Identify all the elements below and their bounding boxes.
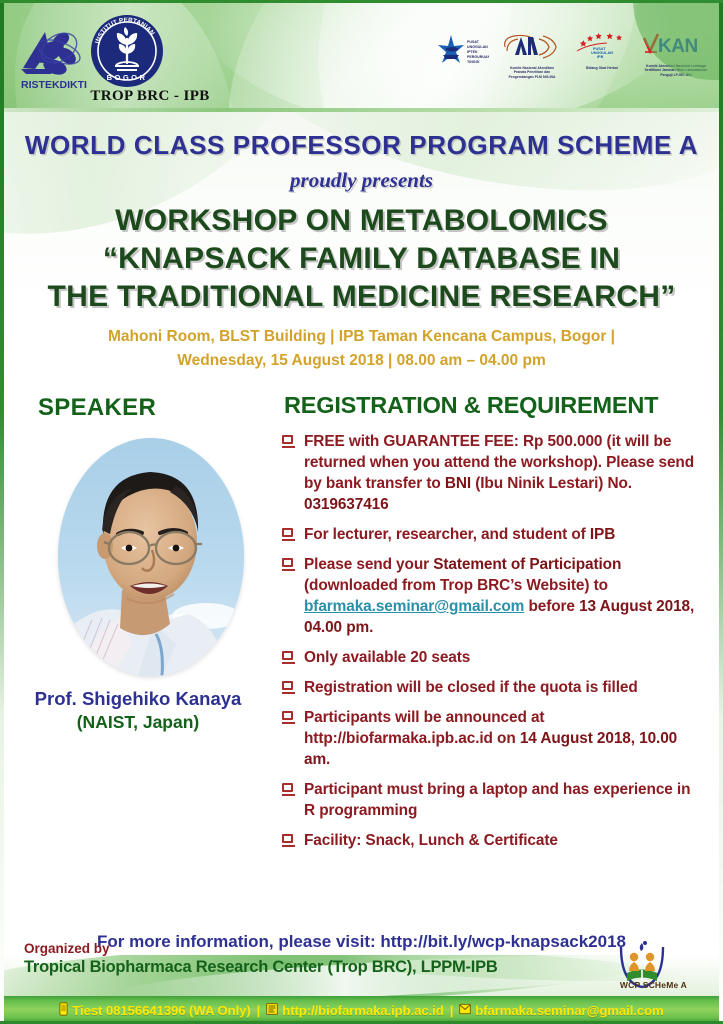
frame-right-edge [719,0,723,1024]
wcp-scheme-caption: WCP SCHeMe A [620,980,687,990]
workshop-title-line2: “KNAPSACK FAMILY DATABASE IN [0,240,723,278]
contact-website[interactable]: http://biofarmaka.ipb.ac.id [282,1003,443,1018]
emphasis-text: 13 August 2018 [579,598,690,615]
pusat-unggulan-ipb-caption: Bidang Obat Herbal [575,66,629,70]
workshop-title-line3: THE TRADITIONAL MEDICINE RESEARCH” [0,278,723,316]
web-icon [266,1003,278,1018]
checkbox-icon [282,435,293,444]
svg-text:BOGOR: BOGOR [107,73,148,82]
ipb-logo: INSTITUT PERTANIAN BOGOR [90,14,164,88]
organized-by-label: Organized by [24,941,110,956]
checkbox-icon [282,681,293,690]
proudly-presents: proudly presents [0,168,723,193]
body-text: Registration will be closed if the quota… [304,679,638,696]
body-text: , [631,730,639,747]
svg-text:IPTEK: IPTEK [467,50,478,54]
checkbox-icon [282,783,293,792]
contact-email[interactable]: bfarmaka.seminar@gmail.com [475,1003,663,1018]
contact-phone[interactable]: Tiest 08156641396 (WA Only) [72,1003,250,1018]
speaker-name: Prof. Shigehiko Kanaya [0,688,276,710]
email-link[interactable]: bfarmaka.seminar@gmail.com [304,598,524,615]
contact-separator-1: | [255,1003,263,1018]
frame-top-edge [0,0,723,3]
registration-item-eligibility: For lecturer, researcher, and student of… [280,524,703,545]
frame-left-edge [0,0,4,1024]
pusat-unggulan-ipb-logo: PUSAT UNGGULAN IPB Bidang Obat Herbal [575,33,629,70]
body-text: (Ibu Ninik Lestari) No. [471,475,632,492]
registration-heading: REGISTRATION & REQUIREMENT [284,392,703,419]
body-text: . [369,619,373,636]
poster-root: RISTEKDIKTI INSTITUT PERTANIAN [0,0,723,1024]
emphasis-text: Statement of Participation [433,556,621,573]
body-text: , [690,598,694,615]
workshop-title: WORKSHOP ON METABOLOMICS “KNAPSACK FAMIL… [0,202,723,316]
emphasis-text: 04.00 pm [304,619,369,636]
venue-datetime: Mahoni Room, BLST Building | IPB Taman K… [0,325,723,373]
svg-text:IPB: IPB [597,55,604,59]
knapp-caption: Komite Nasional Akreditasi Pranata Penel… [501,66,563,79]
speaker-photo [58,438,244,676]
speaker-heading: SPEAKER [38,394,156,422]
body-text: Facility: Snack, Lunch & Certificate [304,832,558,849]
checkbox-icon [282,558,293,567]
poster-header: RISTEKDIKTI INSTITUT PERTANIAN [0,0,723,112]
emphasis-text: 14 August 2018 [520,730,631,747]
registration-item-seats: Only available 20 seats [280,647,703,668]
body-text: . [326,751,330,768]
registration-item-quota: Registration will be closed if the quota… [280,677,703,698]
emphasis-text: 0319637416 [304,496,389,513]
title-block: WORLD CLASS PROFESSOR PROGRAM SCHEME A p… [0,112,723,390]
svg-text:PUSAT: PUSAT [467,40,480,44]
venue-line: Mahoni Room, BLST Building | IPB Taman K… [0,325,723,349]
emphasis-text: IPB [590,526,615,543]
phone-icon [59,1002,68,1019]
knapp-accreditation-logo: Komite Nasional Akreditasi Pranata Penel… [501,33,563,79]
body-text: Only available 20 seats [304,649,470,666]
registration-item-statement: Please send your Statement of Participat… [280,554,703,638]
mail-icon [459,1003,471,1018]
registration-section: REGISTRATION & REQUIREMENT FREE with GUA… [280,390,703,860]
speaker-section: SPEAKER [0,390,276,930]
checkbox-icon [282,651,293,660]
svg-text:PERGURUAN: PERGURUAN [467,55,489,59]
ristekdikti-logo: RISTEKDIKTI [15,22,93,94]
body-text: Please send your [304,556,433,573]
contact-bar: Tiest 08156641396 (WA Only) | http://bio… [0,996,723,1024]
registration-item-laptop: Participant must bring a laptop and has … [280,779,703,821]
body-text: Participant must bring a laptop and has … [304,781,690,819]
program-title: WORLD CLASS PROFESSOR PROGRAM SCHEME A [0,130,723,161]
svg-text:TINGGI: TINGGI [467,60,479,64]
speaker-affiliation: (NAIST, Japan) [0,712,276,733]
checkbox-icon [282,528,293,537]
contact-separator-2: | [448,1003,456,1018]
registration-item-fee: FREE with GUARANTEE FEE: Rp 500.000 (it … [280,431,703,515]
checkbox-icon [282,834,293,843]
organizer-name: Tropical Biopharmaca Research Center (Tr… [24,958,498,977]
pusat-unggulan-iptek-logo: PUSAT UNGGULAN IPTEK PERGURUAN TINGGI [437,33,489,76]
body-text: before [524,598,579,615]
svg-text:UNGGULAN: UNGGULAN [467,45,488,49]
body-text: (downloaded from Trop BRC’s Website) to [304,577,608,594]
registration-item-announcement: Participants will be announced at http:/… [280,707,703,770]
body-text: Participants will be announced at http:/… [304,709,544,747]
registration-list: FREE with GUARANTEE FEE: Rp 500.000 (it … [280,431,703,851]
poster-body: SPEAKER [0,390,723,930]
tropbrc-wordmark: TROP BRC - IPB [55,88,245,105]
emphasis-text: BNI [445,475,471,492]
datetime-line: Wednesday, 15 August 2018 | 08.00 am – 0… [0,349,723,373]
workshop-title-line1: WORKSHOP ON METABOLOMICS [0,202,723,240]
registration-item-facility: Facility: Snack, Lunch & Certificate [280,830,703,851]
body-text: For lecturer, researcher, and student of [304,526,590,543]
checkbox-icon [282,711,293,720]
